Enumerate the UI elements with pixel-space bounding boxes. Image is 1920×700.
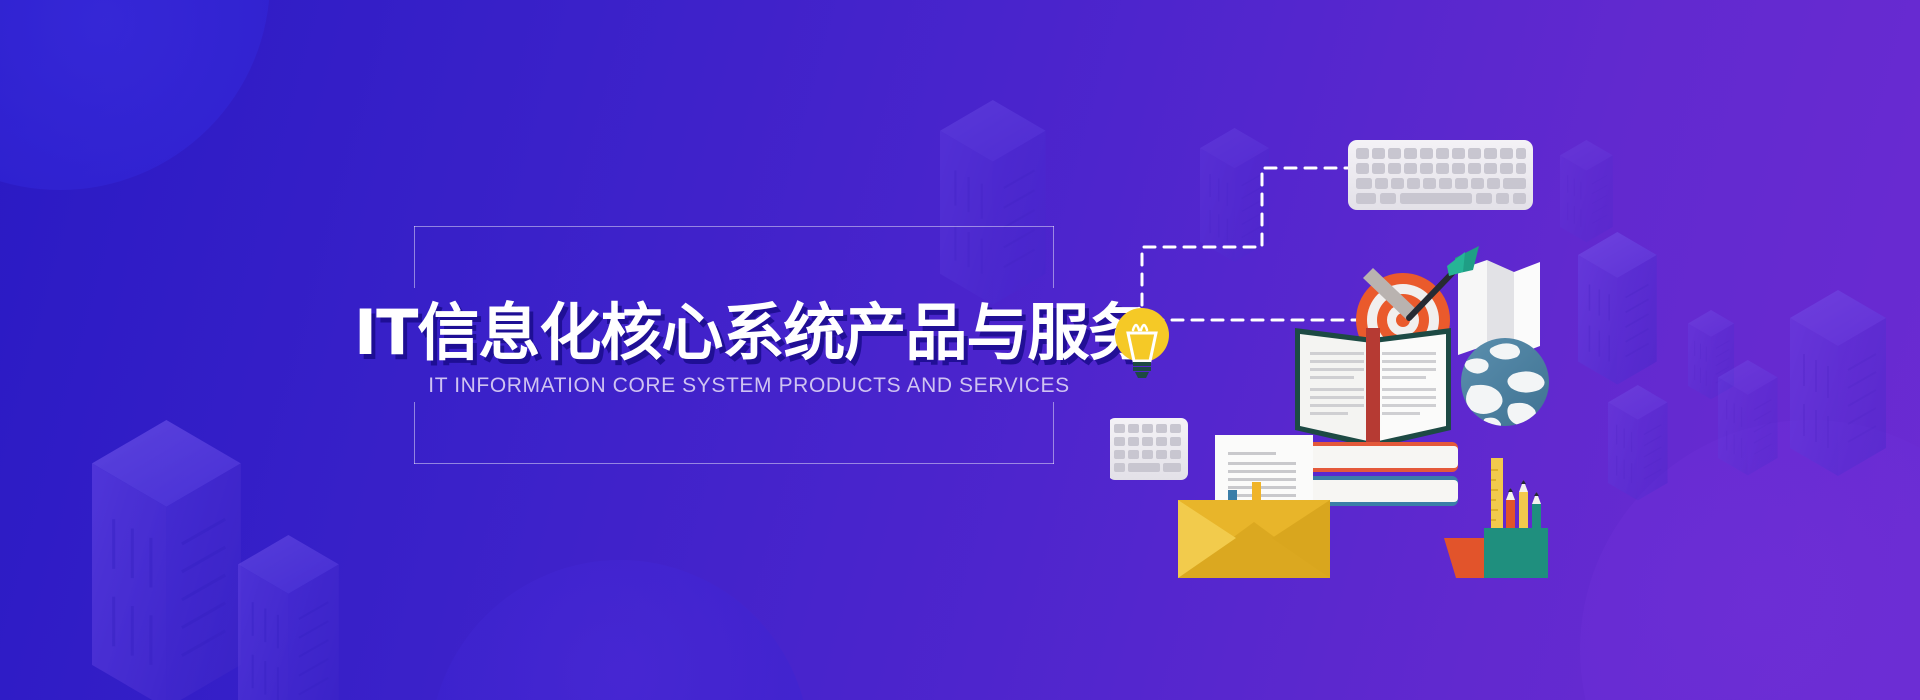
lightbulb-icon [1115, 308, 1169, 378]
frame-border-left-upper [414, 226, 415, 288]
frame-border-left-lower [414, 402, 415, 464]
title-frame: IT信息化核心系统产品与服务 IT INFORMATION CORE SYSTE… [414, 226, 1054, 464]
pencil-holder-icon [1484, 458, 1548, 578]
book-stack-icon [1290, 442, 1458, 506]
frame-border-right-upper [1053, 226, 1054, 288]
envelope-icon [1178, 500, 1330, 578]
keyboard-bottom-icon [1110, 418, 1188, 480]
banner-root: IT信息化核心系统产品与服务 IT INFORMATION CORE SYSTE… [0, 0, 1920, 700]
frame-border-bottom [414, 463, 1054, 464]
it-workspace-illustration [1110, 130, 1560, 600]
banner-title: IT信息化核心系统产品与服务 [354, 282, 1134, 372]
keyboard-top-icon [1348, 140, 1533, 210]
globe-icon [1461, 338, 1549, 432]
frame-border-right-lower [1053, 402, 1054, 464]
frame-border-top [414, 226, 1054, 227]
banner-subtitle: IT INFORMATION CORE SYSTEM PRODUCTS AND … [354, 374, 1144, 398]
